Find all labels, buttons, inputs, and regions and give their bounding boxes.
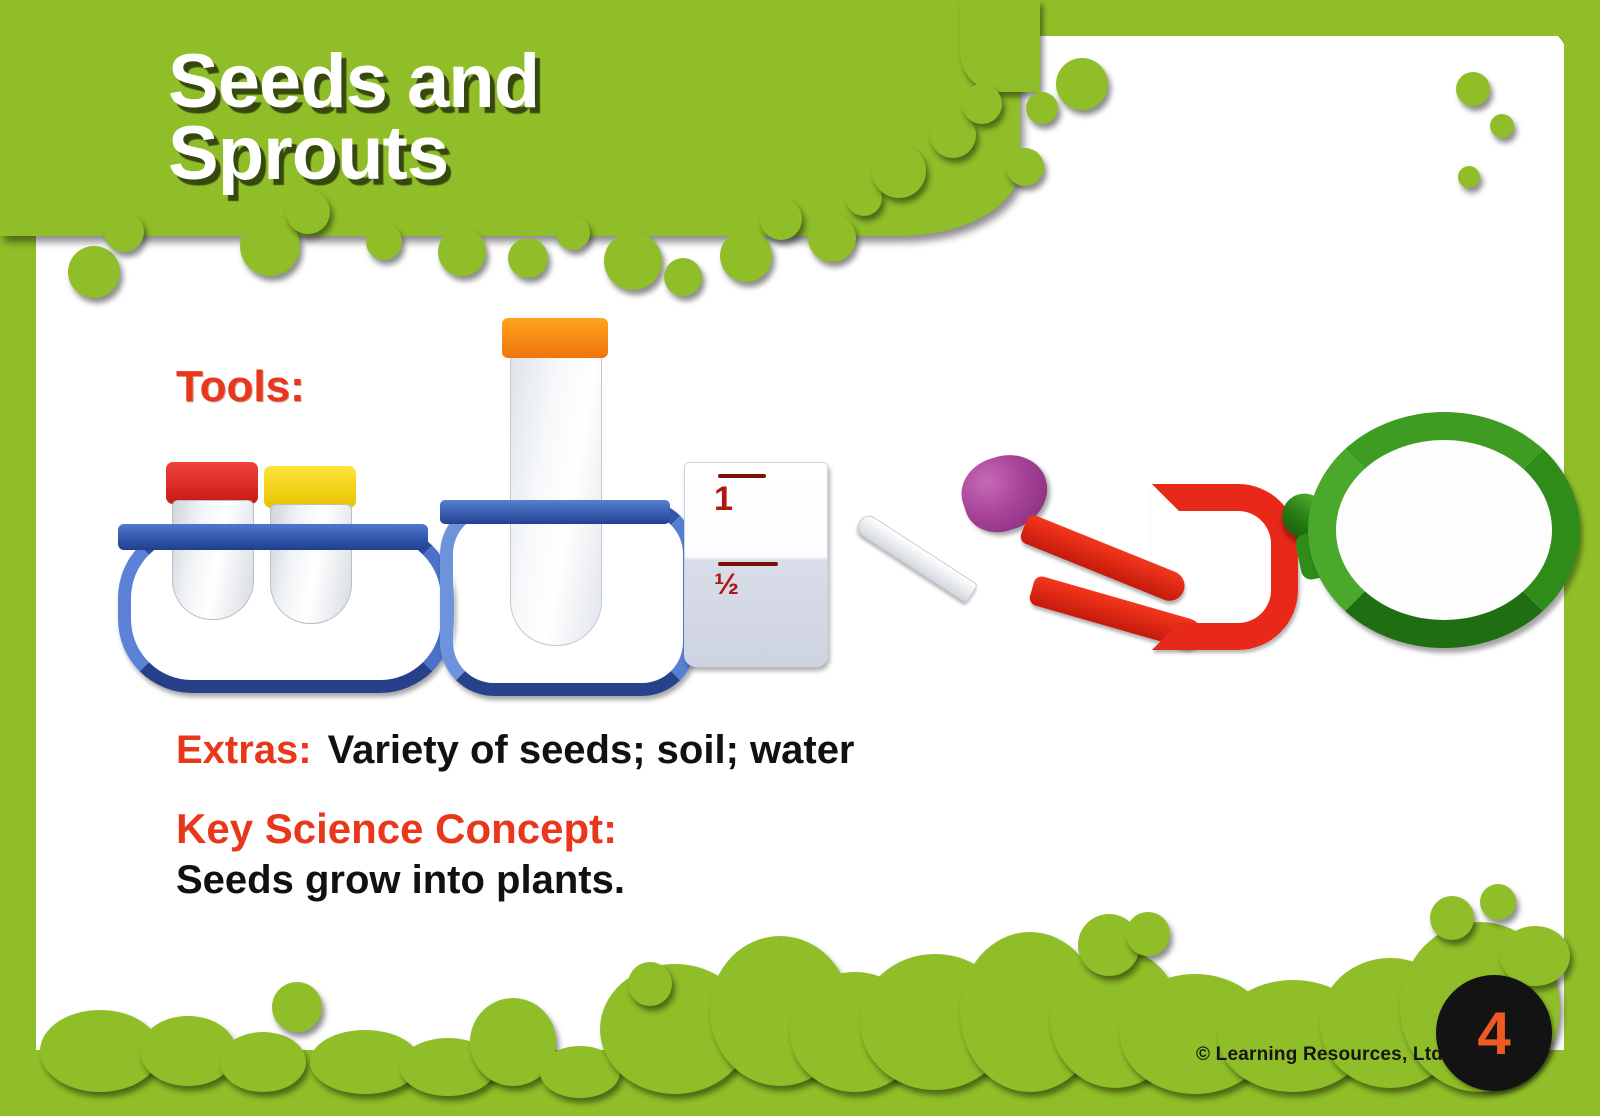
measuring-cup-line-half <box>718 562 778 566</box>
green-border-top-right <box>960 0 1600 36</box>
rack-top-bar <box>440 500 670 524</box>
key-science-concept-value: Seeds grow into plants. <box>176 858 625 903</box>
tools-label: Tools: <box>176 362 305 412</box>
key-science-concept-label: Key Science Concept: <box>176 805 617 853</box>
test-tube-cap-orange <box>502 318 608 358</box>
green-border-left <box>0 0 36 1116</box>
page-number-badge: 4 <box>1436 975 1552 1091</box>
page-number-value: 4 <box>1436 975 1552 1091</box>
measuring-cup-mark-half: ½ <box>714 568 739 602</box>
extras-label: Extras: <box>176 728 312 772</box>
measuring-cup-illustration: 1 ½ <box>684 462 828 667</box>
green-border-bottom <box>0 1078 1600 1116</box>
magnifier-lens-ring <box>1308 412 1580 648</box>
copyright-notice: © Learning Resources, Ltd. <box>1196 1044 1449 1066</box>
test-tube-rack-two-vials-illustration <box>118 452 428 667</box>
activity-card: Seeds and Sprouts Tools: 1 ½ <box>0 0 1600 1116</box>
rack-top-bar <box>118 524 428 550</box>
measuring-cup-line-full <box>718 474 766 478</box>
extras-row: Extras:Variety of seeds; soil; water <box>176 728 855 773</box>
extras-value: Variety of seeds; soil; water <box>328 728 855 772</box>
dropper-pipette <box>854 512 978 603</box>
tweezers-illustration <box>1024 478 1244 668</box>
measuring-cup-mark-full: 1 <box>714 480 733 519</box>
rack-frame <box>440 500 696 696</box>
vial-cap-yellow <box>264 466 356 508</box>
tall-test-tube-illustration <box>430 318 680 670</box>
vial-cap-red <box>166 462 258 504</box>
page-title: Seeds and Sprouts <box>168 46 539 190</box>
magnifying-glass-illustration <box>1268 412 1528 682</box>
